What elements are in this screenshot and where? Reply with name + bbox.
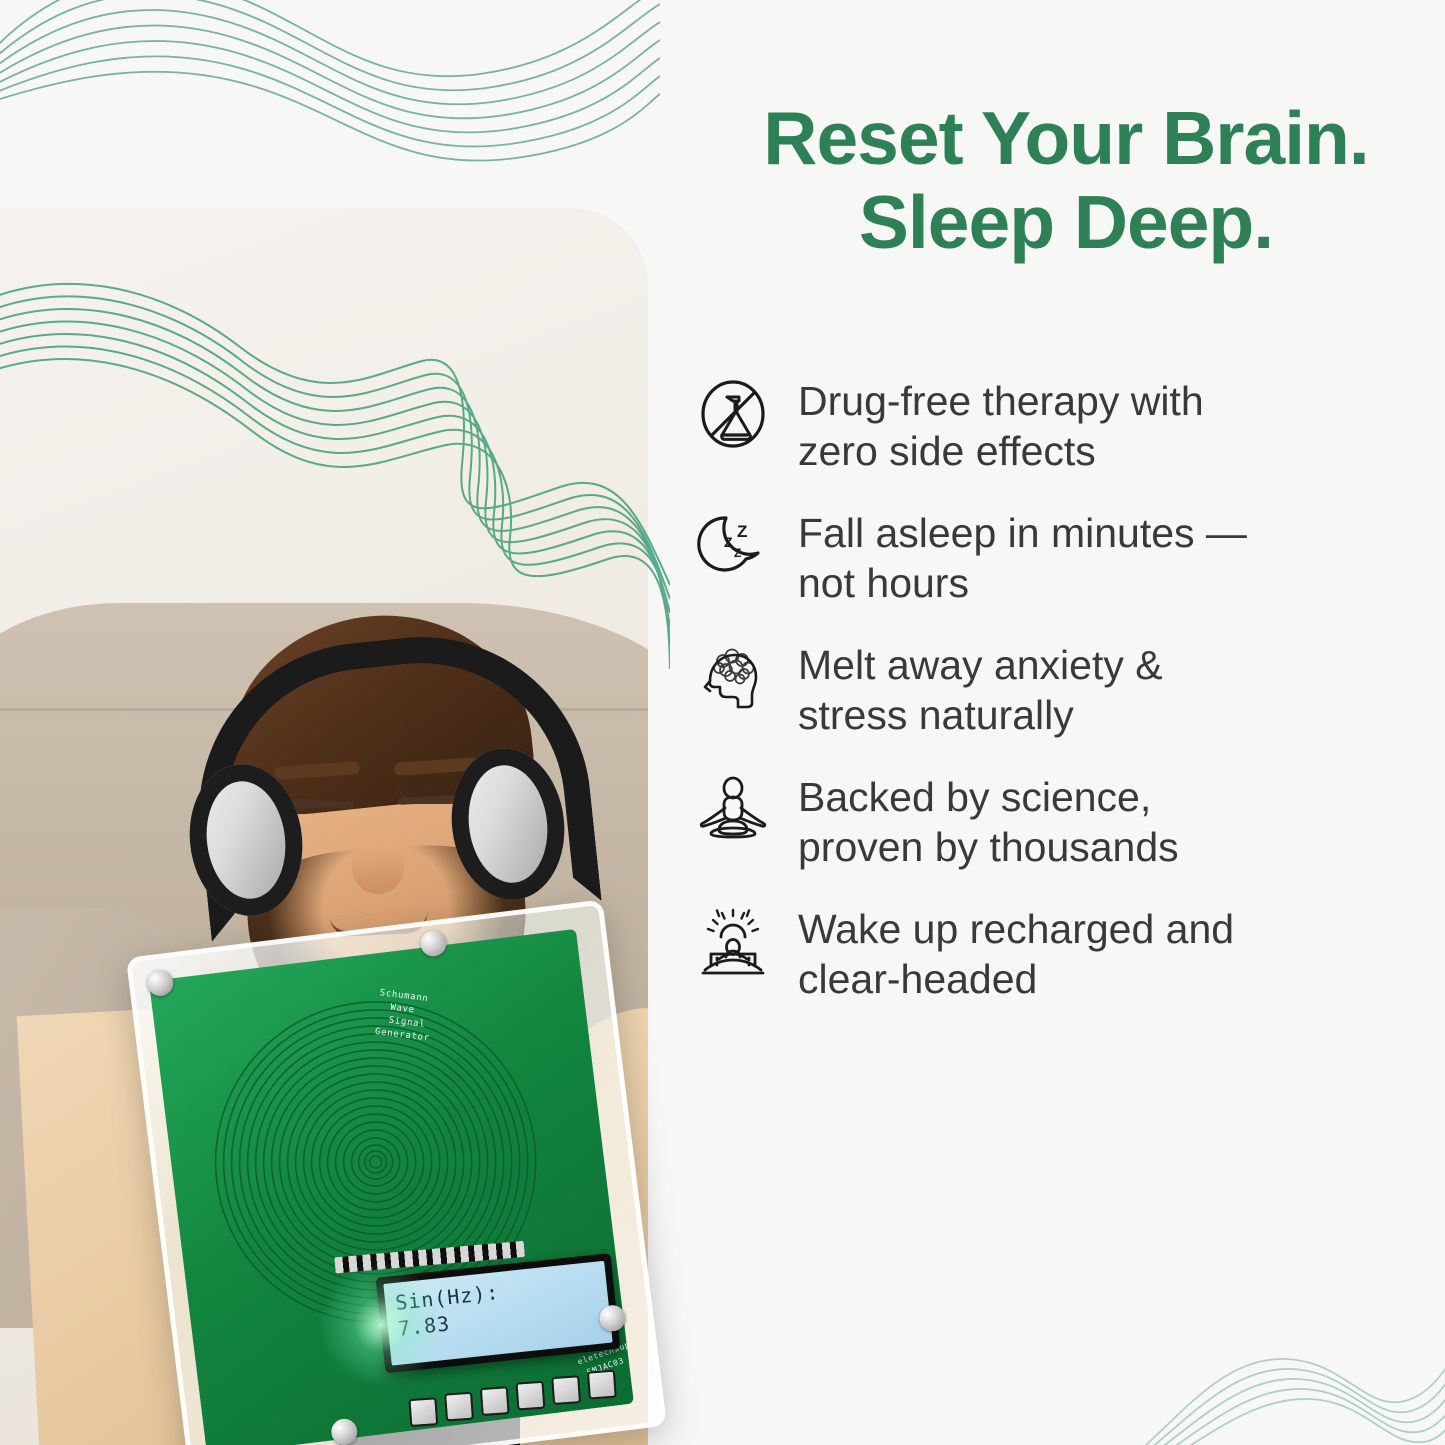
wake-up-sunrise-icon bbox=[694, 900, 772, 984]
svg-text:Z: Z bbox=[724, 534, 733, 550]
feature-line-1: Drug-free therapy with bbox=[798, 376, 1204, 426]
poster-canvas: Schumann Wave Signal Generator eletechsu… bbox=[0, 0, 1445, 1445]
feature-line-2: proven by thousands bbox=[798, 822, 1179, 872]
feature-text: Wake up recharged and clear-headed bbox=[798, 900, 1234, 1004]
feature-list: Drug-free therapy with zero side effects… bbox=[694, 372, 1434, 1032]
feature-text: Backed by science, proven by thousands bbox=[798, 768, 1179, 872]
svg-text:Z: Z bbox=[737, 522, 747, 541]
feature-line-1: Backed by science, bbox=[798, 772, 1179, 822]
feature-line-1: Wake up recharged and bbox=[798, 904, 1234, 954]
moon-zzz-icon: Z Z Z bbox=[694, 504, 772, 588]
feature-item: Drug-free therapy with zero side effects bbox=[694, 372, 1434, 476]
feature-line-1: Fall asleep in minutes — bbox=[798, 508, 1247, 558]
screw-top-right bbox=[419, 929, 448, 958]
schumann-wave-generator-device: Schumann Wave Signal Generator eletechsu… bbox=[120, 895, 700, 1445]
feature-text: Drug-free therapy with zero side effects bbox=[798, 372, 1204, 476]
feature-line-2: zero side effects bbox=[798, 426, 1204, 476]
meditation-lotus-icon bbox=[694, 768, 772, 852]
feature-line-2: stress naturally bbox=[798, 690, 1163, 740]
feature-line-1: Melt away anxiety & bbox=[798, 640, 1163, 690]
feature-text: Melt away anxiety & stress naturally bbox=[798, 636, 1163, 740]
no-drug-flask-icon bbox=[694, 372, 772, 456]
page-headline: Reset Your Brain. Sleep Deep. bbox=[696, 96, 1436, 264]
feature-item: Melt away anxiety & stress naturally bbox=[694, 636, 1434, 740]
feature-item: Backed by science, proven by thousands bbox=[694, 768, 1434, 872]
feature-item: Wake up recharged and clear-headed bbox=[694, 900, 1434, 1004]
right-content-column: Reset Your Brain. Sleep Deep. Drug-free … bbox=[676, 0, 1445, 1445]
feature-text: Fall asleep in minutes — not hours bbox=[798, 504, 1247, 608]
feature-line-2: not hours bbox=[798, 558, 1247, 608]
screw-top-left bbox=[146, 968, 175, 997]
screw-bottom-left bbox=[330, 1417, 359, 1445]
feature-item: Z Z Z Fall asleep in minutes — not hours bbox=[694, 504, 1434, 608]
svg-text:Z: Z bbox=[734, 546, 741, 560]
headline-line-1: Reset Your Brain. bbox=[696, 96, 1436, 180]
anxious-head-icon bbox=[694, 636, 772, 720]
feature-line-2: clear-headed bbox=[798, 954, 1234, 1004]
screw-bottom-right bbox=[598, 1304, 627, 1333]
decorative-wave-top-left bbox=[0, 0, 660, 230]
headline-line-2: Sleep Deep. bbox=[696, 180, 1436, 264]
case-screws bbox=[120, 895, 700, 1445]
